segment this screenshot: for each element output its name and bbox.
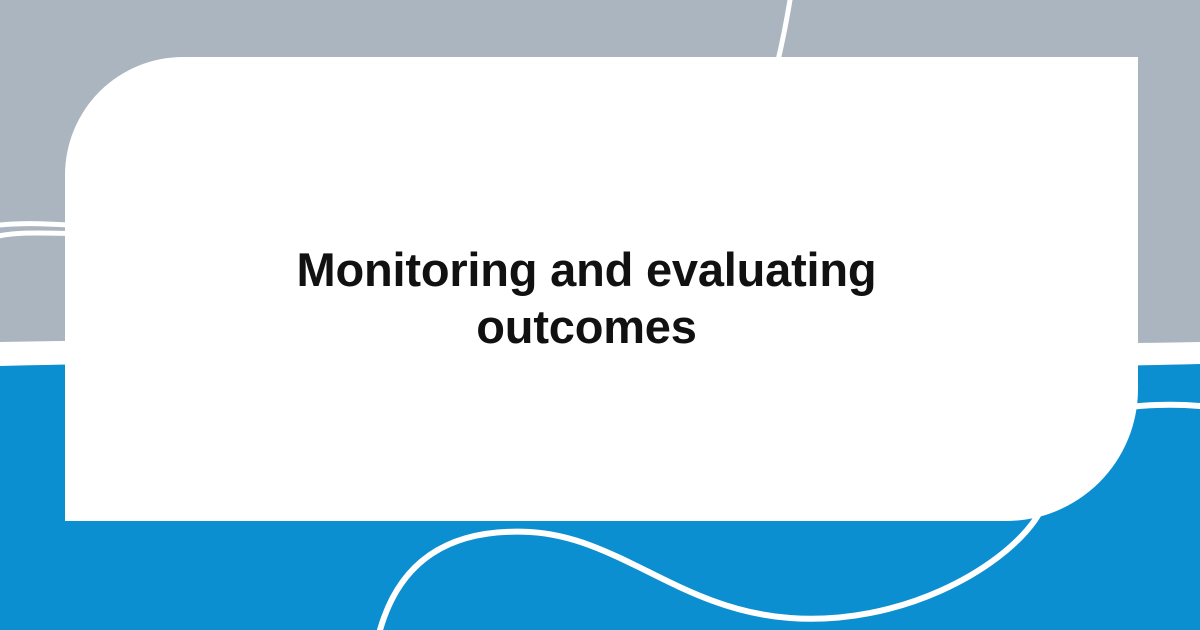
- title-block: Monitoring and evaluating outcomes: [237, 241, 937, 356]
- page-title: Monitoring and evaluating outcomes: [237, 241, 937, 356]
- social-card-canvas: Monitoring and evaluating outcomes: [0, 0, 1200, 630]
- content-card: Monitoring and evaluating outcomes: [65, 57, 1138, 521]
